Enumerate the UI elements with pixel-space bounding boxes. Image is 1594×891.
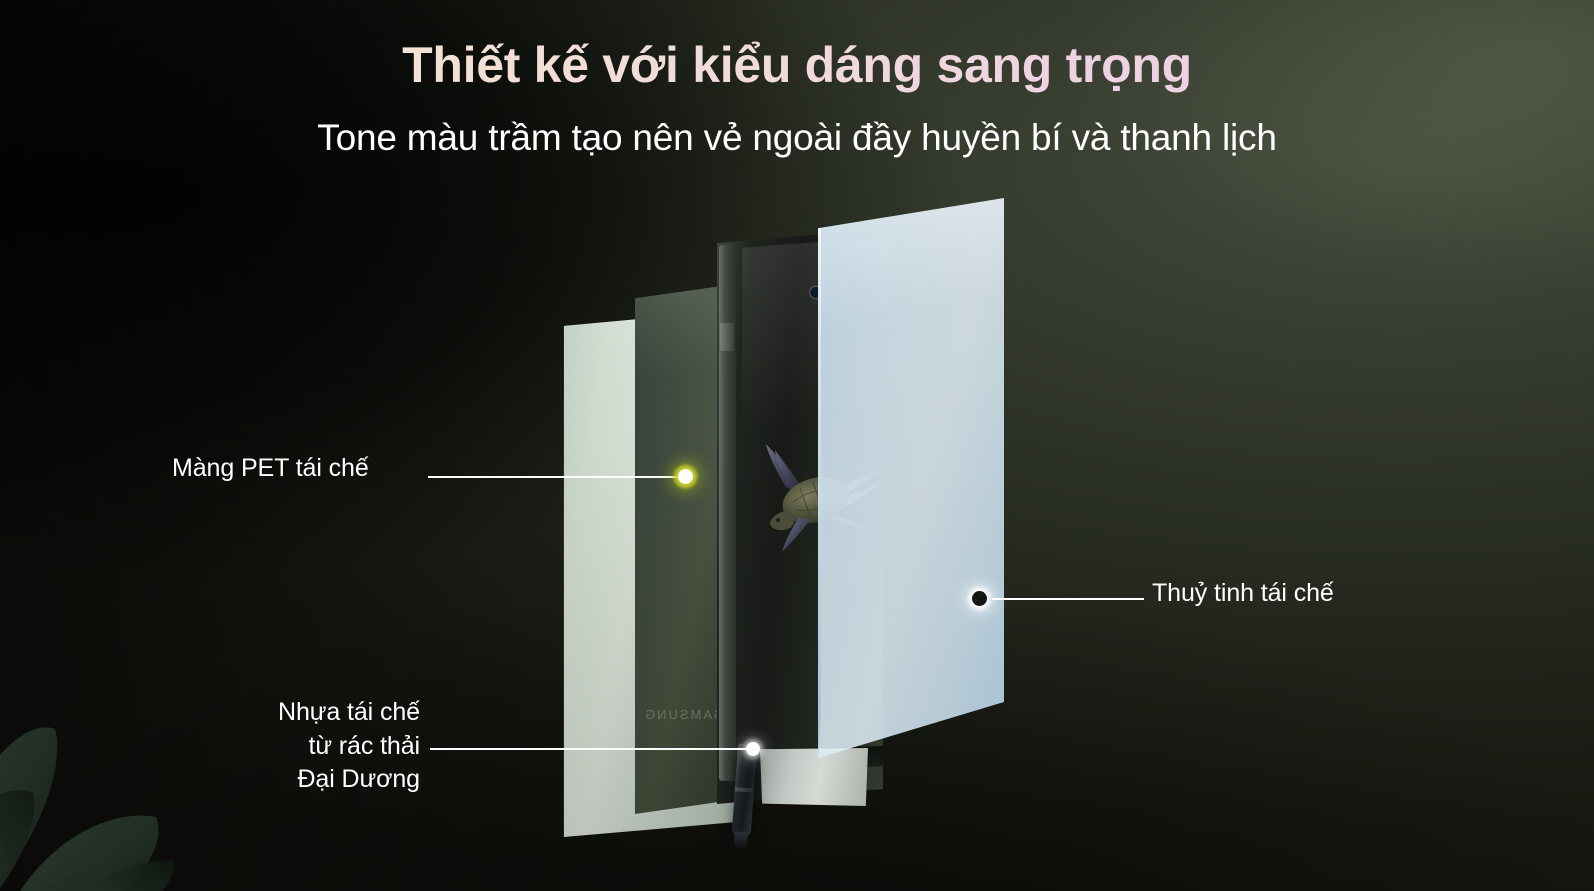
s-pen-tip (734, 831, 748, 849)
brand-emboss-text: SAMSUNG (643, 707, 723, 722)
callout-plastic-line-2: từ rác thải (0, 730, 420, 764)
glass-edge-highlight (818, 198, 821, 758)
bottom-metal-plate (760, 748, 868, 806)
leader-line-pet (428, 476, 684, 478)
callout-plastic-line-3: Đại Dương (0, 763, 420, 797)
callout-dot-glass[interactable] (972, 591, 987, 606)
callout-label-pet: Màng PET tái chế (172, 452, 369, 486)
callout-dot-ocean-plastic[interactable] (746, 742, 760, 756)
leader-line-ocean-plastic (430, 748, 752, 750)
s-pen-ring (735, 787, 754, 792)
callout-label-glass: Thuỷ tinh tái chế (1152, 577, 1334, 611)
callout-glass-line-1: Thuỷ tinh tái chế (1152, 577, 1334, 611)
infographic-stage: Thiết kế với kiểu dáng sang trọng Tone m… (0, 0, 1594, 891)
leader-line-glass (992, 598, 1144, 600)
callout-dot-pet[interactable] (678, 469, 693, 484)
power-button[interactable] (720, 323, 734, 351)
layer-recycled-glass (818, 198, 1004, 758)
callout-pet-line-1: Màng PET tái chế (172, 452, 369, 486)
callout-plastic-line-1: Nhựa tái chế (0, 696, 420, 730)
callout-label-ocean-plastic: Nhựa tái chế từ rác thải Đại Dương (0, 696, 420, 797)
